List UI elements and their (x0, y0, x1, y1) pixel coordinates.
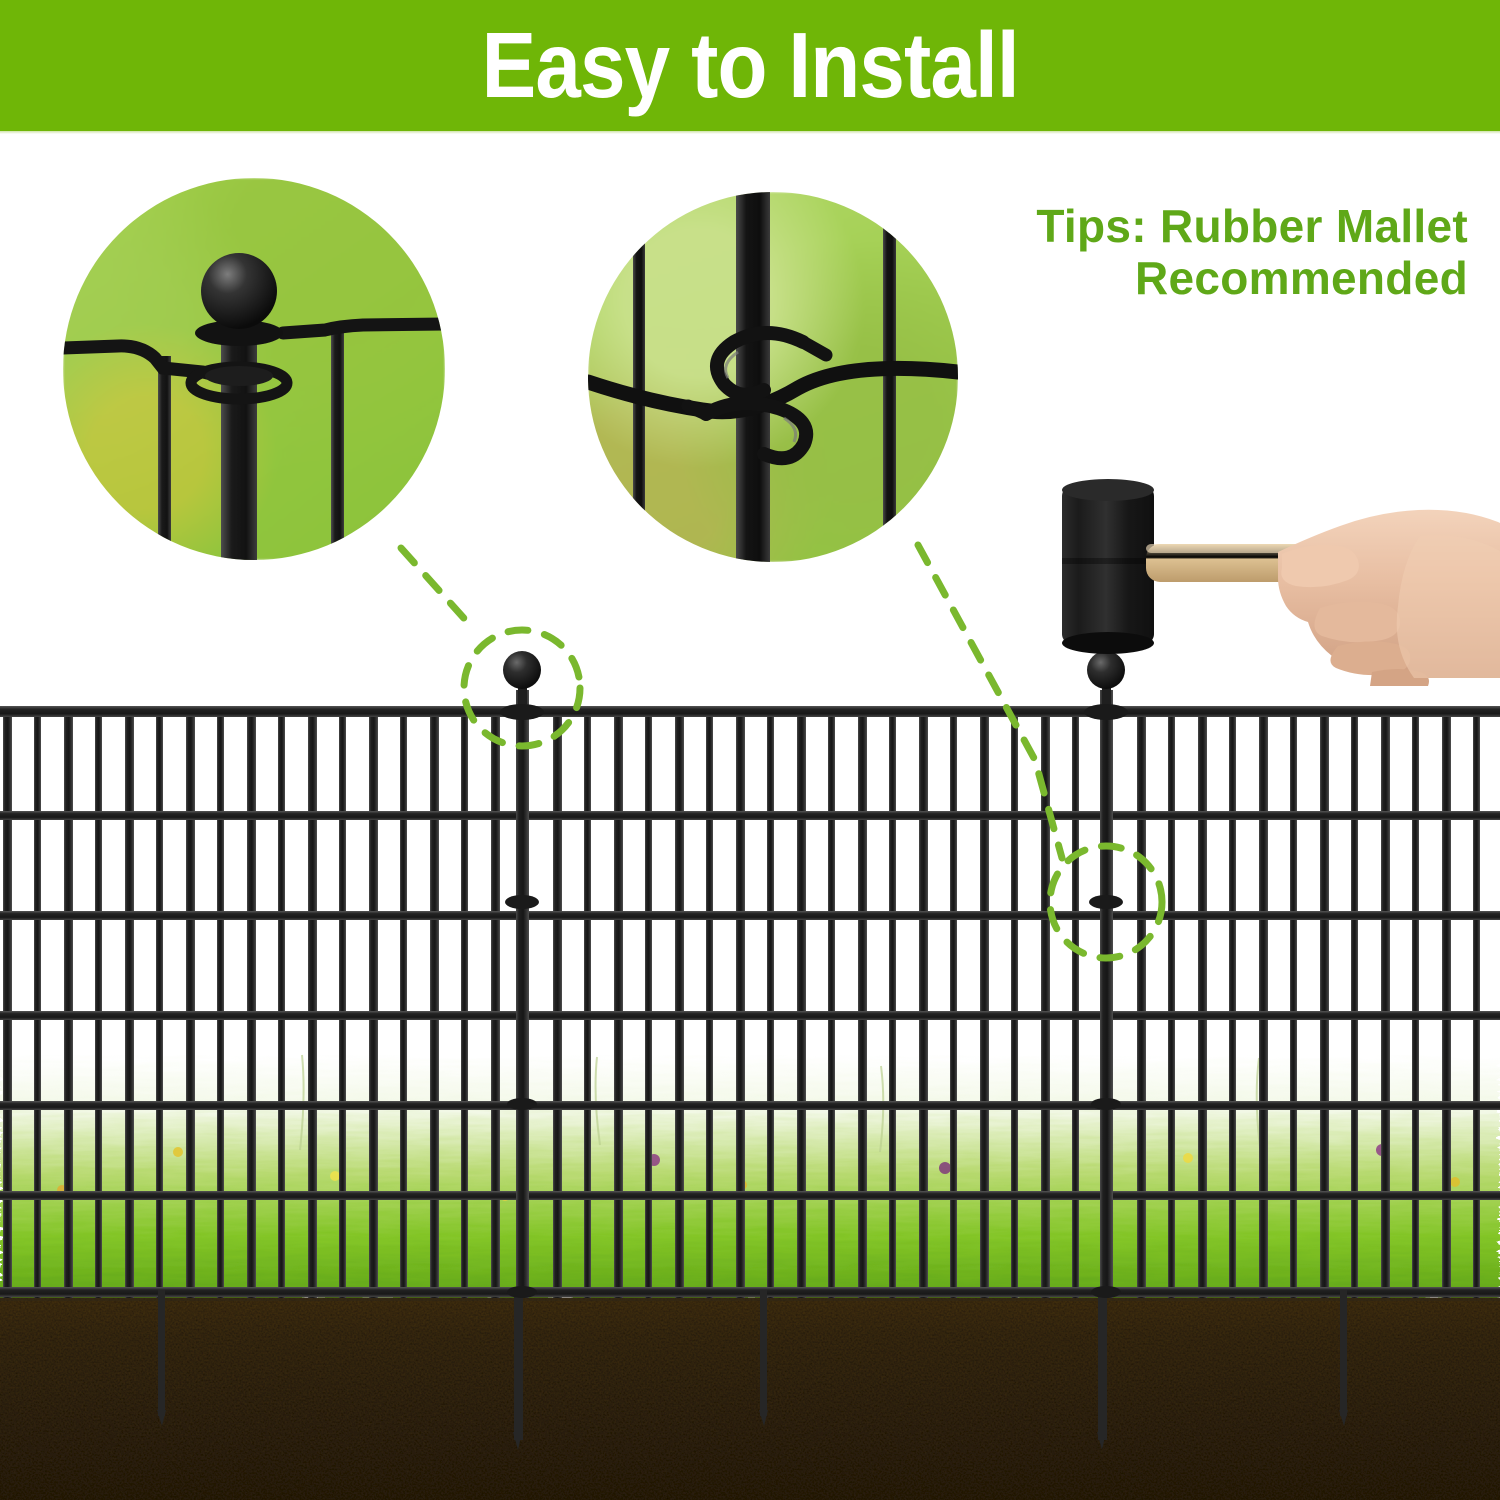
banner-divider (0, 131, 1500, 134)
soil-ground (0, 1296, 1500, 1500)
grass-backdrop (0, 1055, 1500, 1301)
tips-line-2: Recommended (998, 252, 1468, 304)
page-title: Easy to Install (481, 19, 1018, 112)
rubber-mallet-illustration (1020, 440, 1500, 690)
callout-1-artwork (63, 178, 445, 560)
header-banner: Easy to Install (0, 0, 1500, 131)
product-infographic: Easy to Install (0, 0, 1500, 1500)
tips-line-1: Tips: Rubber Mallet (1036, 200, 1468, 252)
tips-text: Tips: Rubber Mallet Recommended (998, 200, 1468, 304)
hand-gripping-handle (1278, 510, 1500, 686)
callout-2-artwork (588, 192, 958, 562)
callout-post-finial (63, 178, 445, 560)
callout-panel-connector (588, 192, 958, 562)
